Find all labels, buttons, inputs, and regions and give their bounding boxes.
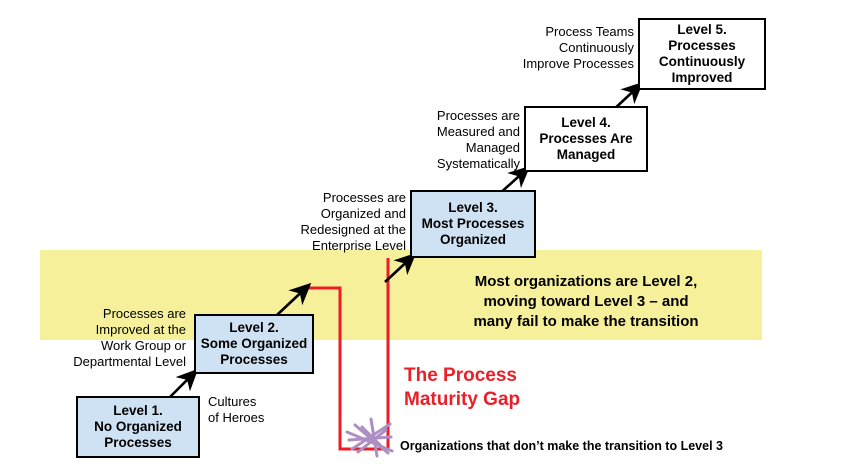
scribble-starburst-icon — [347, 419, 392, 456]
level-2-note: Processes are Improved at the Work Group… — [58, 306, 186, 370]
gap-note: Organizations that don’t make the transi… — [400, 438, 820, 454]
level-4-label: Level 4. Processes Are Managed — [539, 115, 632, 163]
gap-title: The Process Maturity Gap — [404, 364, 634, 412]
level-1-note: Cultures of Heroes — [208, 394, 318, 426]
level-3-label: Level 3. Most Processes Organized — [422, 200, 525, 248]
level-3-box[interactable]: Level 3. Most Processes Organized — [410, 190, 536, 258]
band-message: Most organizations are Level 2, moving t… — [416, 272, 756, 332]
maturity-diagram-canvas: Level 1. No Organized Processes Level 2.… — [0, 0, 842, 472]
level-5-note: Process Teams Continuously Improve Proce… — [500, 24, 634, 72]
level-5-label: Level 5. Processes Continuously Improved — [659, 22, 745, 86]
level-4-note: Processes are Measured and Managed Syste… — [398, 108, 520, 172]
level-1-box[interactable]: Level 1. No Organized Processes — [76, 396, 200, 458]
level-2-label: Level 2. Some Organized Processes — [201, 320, 308, 368]
level-1-label: Level 1. No Organized Processes — [94, 403, 182, 451]
level-3-note: Processes are Organized and Redesigned a… — [278, 190, 406, 254]
level-4-box[interactable]: Level 4. Processes Are Managed — [524, 106, 648, 172]
level-5-box[interactable]: Level 5. Processes Continuously Improved — [638, 18, 766, 90]
level-2-box[interactable]: Level 2. Some Organized Processes — [194, 314, 314, 374]
